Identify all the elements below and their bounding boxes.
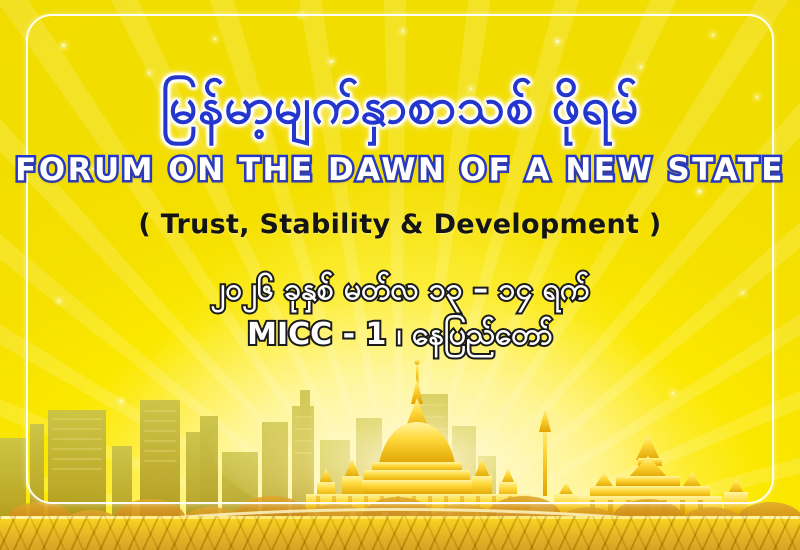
convention-centre (554, 434, 748, 516)
banner-text-block: မြန်မာ့မျက်နှာစာသစ် ဖိုရမ် FORUM ON THE … (0, 0, 800, 354)
slender-spire (539, 408, 551, 496)
sparkle-15 (672, 392, 674, 394)
tree-line (6, 496, 800, 546)
city-skyline-left (0, 390, 496, 550)
skyline-artwork (0, 360, 800, 550)
english-title: FORUM ON THE DAWN OF A NEW STATE (0, 152, 800, 188)
sparkle-14 (120, 400, 122, 402)
light-ribbons (0, 510, 800, 550)
gold-band-pattern (0, 516, 800, 550)
uppatasanti-pagoda (306, 360, 530, 512)
tagline: ( Trust, Stability & Development ) (0, 209, 800, 240)
event-venue: MICC - 1 ၊ နေပြည်တော် (0, 315, 800, 354)
event-banner: မြန်မာ့မျက်နှာစာသစ် ဖိုရမ် FORUM ON THE … (0, 0, 800, 550)
pagoda-halo (208, 360, 628, 532)
convention-centre-arches (590, 500, 703, 516)
ornamental-gold-band (0, 516, 800, 550)
event-date: ၂၀၂၆ ခုနှစ် မတ်လ ၁၃ – ၁၄ ရက် (0, 270, 800, 309)
pagoda-base-columns (316, 496, 512, 512)
gold-band-top-edge (0, 516, 800, 519)
myanmar-title: မြန်မာ့မျက်နှာစာသစ် ဖိုရမ် (0, 78, 800, 136)
building-windows (52, 404, 446, 470)
